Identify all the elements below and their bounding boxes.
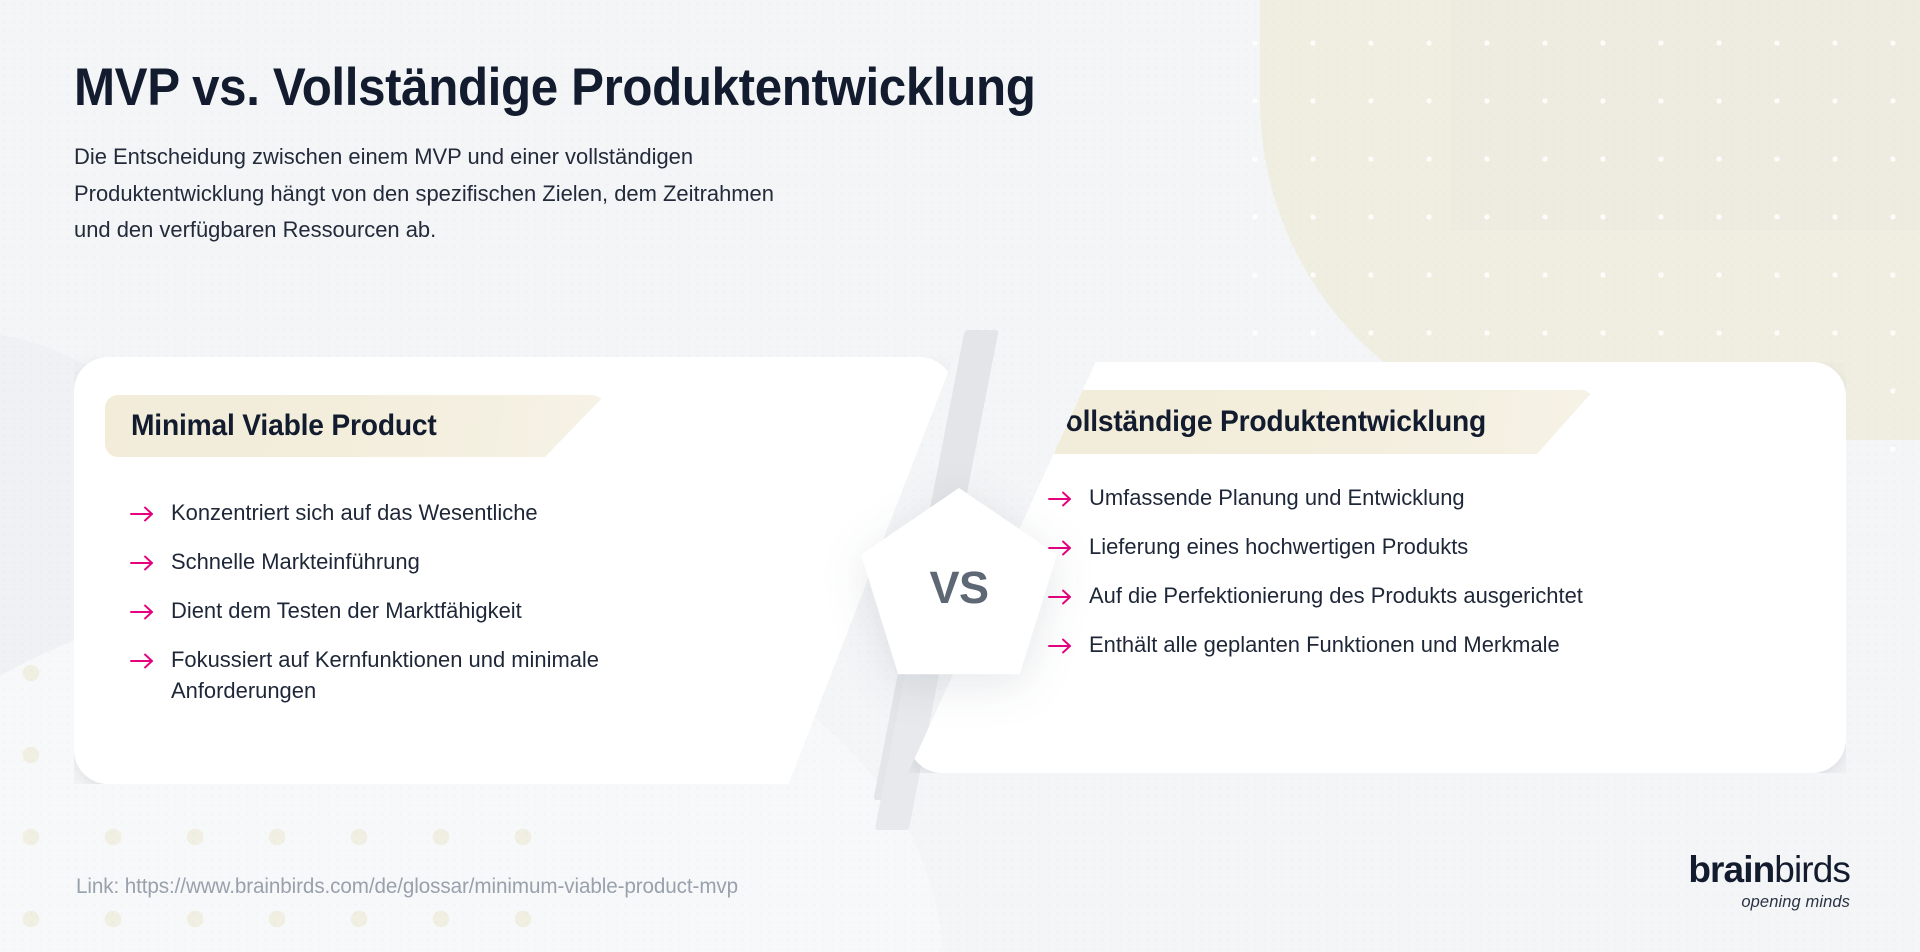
feature-list-mvp: Konzentriert sich auf das Wesentliche Sc… [128,497,768,724]
card-heading-label-mvp: Minimal Viable Product [131,409,437,443]
arrow-right-icon [128,500,157,528]
arrow-right-icon [128,549,157,577]
arrow-right-icon [128,598,157,626]
header-block: MVP vs. Vollständige Produktentwicklung … [74,58,1094,249]
list-item: Enthält alle geplanten Funktionen und Me… [1046,629,1746,660]
source-link[interactable]: Link: https://www.brainbirds.com/de/glos… [76,874,738,899]
list-item: Dient dem Testen der Marktfähigkeit [128,595,768,626]
list-item-label: Dient dem Testen der Marktfähigkeit [171,595,522,626]
logo-wordmark-bold: brain [1688,849,1774,890]
versus-badge: VS [861,488,1057,684]
arrow-right-icon [128,647,157,675]
logo-tagline: opening minds [1688,893,1850,912]
card-heading-label-full-product: Vollständige Produktentwicklung [1049,405,1486,439]
infographic-canvas: MVP vs. Vollständige Produktentwicklung … [0,0,1920,952]
list-item: Schnelle Markteinführung [128,546,768,577]
card-heading-badge-mvp: Minimal Viable Product [105,395,605,457]
list-item: Lieferung eines hochwertigen Produkts [1046,531,1746,562]
card-heading-badge-full-product: Vollständige Produktentwicklung [1024,390,1594,454]
list-item-label: Schnelle Markteinführung [171,546,420,577]
list-item: Auf die Perfektionierung des Produkts au… [1046,580,1746,611]
list-item-label: Umfassende Planung und Entwicklung [1089,482,1465,513]
list-item: Konzentriert sich auf das Wesentliche [128,497,768,528]
page-title: MVP vs. Vollständige Produktentwicklung [74,58,1023,117]
logo-wordmark-light: birds [1774,849,1850,890]
versus-badge-label: VS [861,562,1057,614]
list-item: Umfassende Planung und Entwicklung [1046,482,1746,513]
list-item-label: Enthält alle geplanten Funktionen und Me… [1089,629,1560,660]
list-item-label: Auf die Perfektionierung des Produkts au… [1089,580,1583,611]
feature-list-full-product: Umfassende Planung und Entwicklung Liefe… [1046,482,1746,678]
list-item-label: Fokussiert auf Kernfunktionen und minima… [171,644,688,706]
list-item-label: Konzentriert sich auf das Wesentliche [171,497,538,528]
list-item: Fokussiert auf Kernfunktionen und minima… [128,644,768,706]
logo-wordmark: brainbirds [1688,851,1850,888]
comparison-card-mvp: Minimal Viable Product Konzentriert sich… [74,357,954,784]
list-item-label: Lieferung eines hochwertigen Produkts [1089,531,1468,562]
brainbirds-logo: brainbirds opening minds [1688,851,1850,912]
page-subtitle: Die Entscheidung zwischen einem MVP und … [74,139,815,248]
